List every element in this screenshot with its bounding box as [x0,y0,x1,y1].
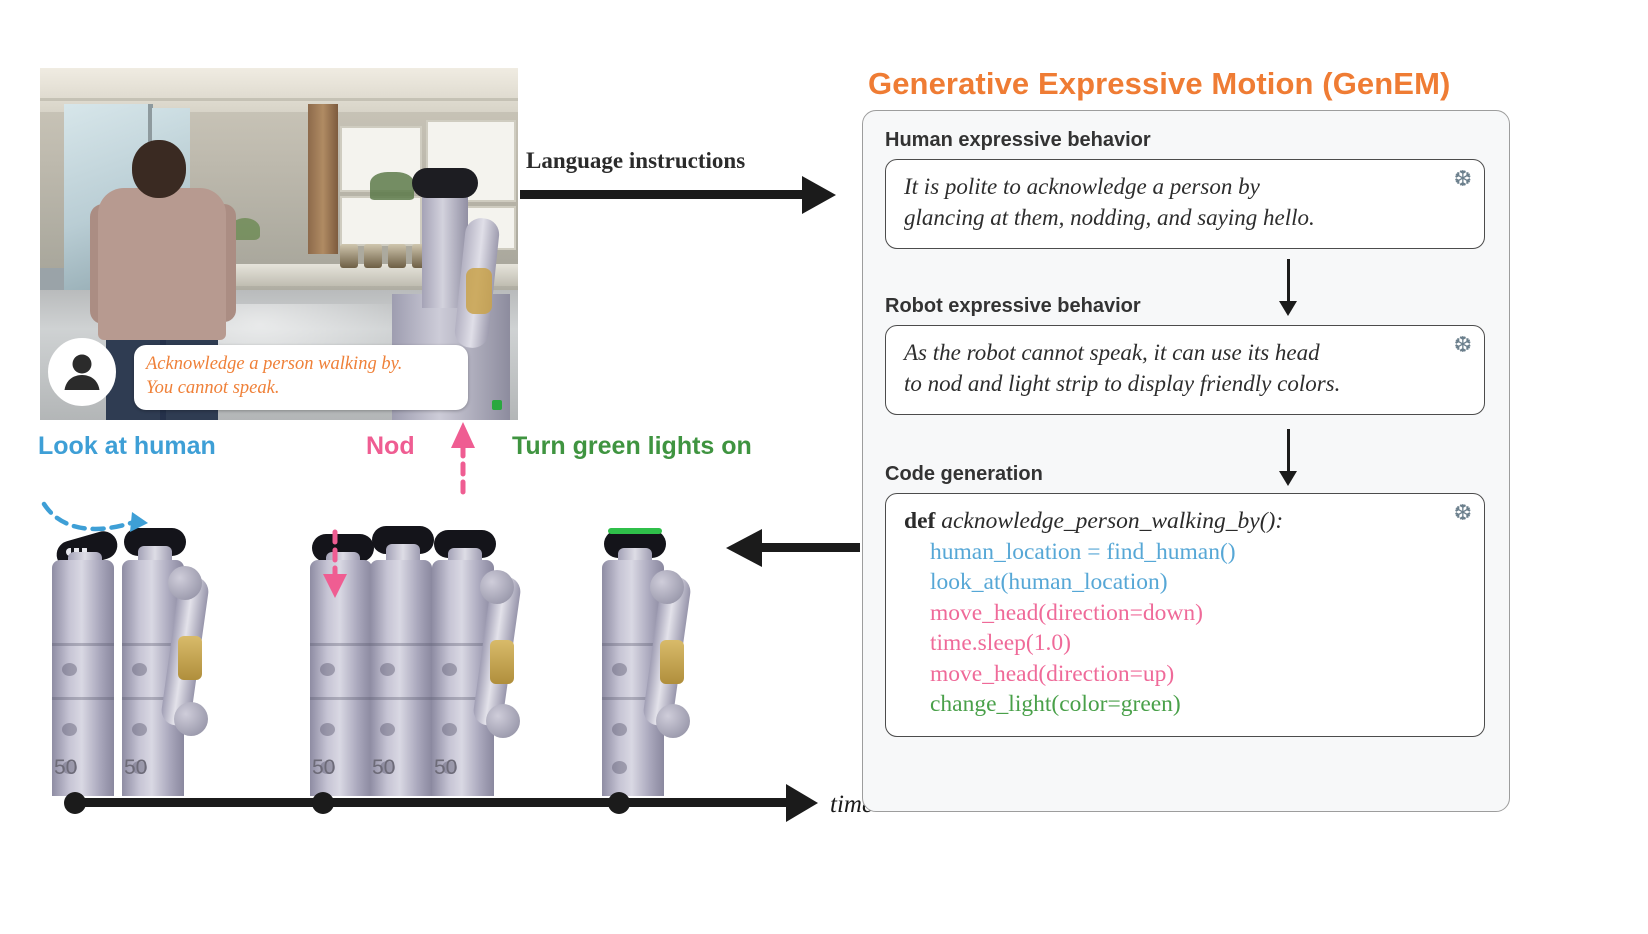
code-line-4: time.sleep(1.0) [904,628,1430,659]
photo-plant [370,172,414,200]
language-instructions-arrow: Language instructions [520,148,860,218]
snowflake-icon: ❆ [1454,168,1472,190]
snowflake-icon: ❆ [1454,334,1472,356]
language-instructions-label: Language instructions [526,148,745,174]
robot-gripper [178,636,202,680]
human-behavior-line-1: It is polite to acknowledge a person by [904,172,1430,203]
section-title: Human expressive behavior [885,129,1485,152]
section-title: Code generation [885,463,1485,486]
robot-behavior-card: ❆ As the robot cannot speak, it can use … [885,325,1485,415]
robot-elbow-joint [174,702,208,736]
robot-body-label: 50 [124,756,147,780]
robot-elbow-joint [656,704,690,738]
code-line-def: def acknowledge_person_walking_by(): [904,506,1430,537]
robot-gripper [660,640,684,684]
robot-green-light-strip [608,528,662,534]
code-line-6: change_light(color=green) [904,689,1430,720]
human-behavior-card: ❆ It is polite to acknowledge a person b… [885,159,1485,249]
section-human-expressive-behavior: Human expressive behavior ❆ It is polite… [885,129,1485,249]
arrow-shaft [760,543,860,552]
stage-caption-turn-green-lights-on: Turn green lights on [512,432,752,461]
photo-wood-column [308,104,338,254]
robot-body-label: 50 [54,756,77,780]
code-line-1: human_location = find_human() [904,537,1430,568]
person-avatar-icon [48,338,116,406]
robot-motion-filmstrip: 50 50 [30,466,860,796]
look-direction-arrow-icon [40,498,150,540]
arrow-head-icon [786,784,818,822]
code-line-2: look_at(human_location) [904,567,1430,598]
left-pipeline-panel: 50 Acknowledge a person walking by. You … [0,0,860,934]
time-axis: time [30,782,850,830]
robot-shoulder-joint [650,570,684,604]
section-robot-expressive-behavior: Robot expressive behavior ❆ As the robot… [885,295,1485,415]
genem-panel-title: Generative Expressive Motion (GenEM) [868,66,1450,102]
photo-robot-head [412,168,478,198]
nod-up-arrow-icon [446,418,480,496]
code-to-robot-arrow [726,528,858,568]
arrow-head-icon [726,529,762,567]
photo-ceiling-line [40,98,518,101]
section-code-generation: Code generation ❆ def acknowledge_person… [885,463,1485,737]
instruction-line-2: You cannot speak. [146,377,456,401]
robot-gripper [490,640,514,684]
time-axis-line [72,798,798,807]
nod-down-arrow-icon [318,528,352,600]
stage-caption-look-at-human: Look at human [38,432,216,461]
photo-person-torso [98,188,226,340]
robot-shoulder-joint [480,570,514,604]
time-axis-tick [312,792,334,814]
time-axis-tick [64,792,86,814]
section-title: Robot expressive behavior [885,295,1485,318]
photo-robot-gripper [466,268,492,314]
code-line-5: move_head(direction=up) [904,659,1430,690]
photo-person-head [132,140,186,198]
photo-whiteboard [340,196,422,246]
human-behavior-line-2: glancing at them, nodding, and saying he… [904,203,1430,234]
robot-behavior-line-1: As the robot cannot speak, it can use it… [904,338,1430,369]
code-keyword-def: def [904,508,935,534]
robot-body-label: 50 [372,756,395,780]
robot-body-label: 50 [434,756,457,780]
code-line-3: move_head(direction=down) [904,598,1430,629]
instruction-speech-bubble: Acknowledge a person walking by. You can… [134,345,468,410]
arrow-head-icon [802,176,836,214]
robot-shoulder-joint [168,566,202,600]
arrow-shaft [520,190,810,199]
robot-behavior-line-2: to nod and light strip to display friend… [904,369,1430,400]
snowflake-icon: ❆ [1454,502,1472,524]
genem-panel: Human expressive behavior ❆ It is polite… [862,110,1510,812]
photo-robot-led [492,400,502,410]
code-generation-card: ❆ def acknowledge_person_walking_by(): h… [885,493,1485,737]
code-function-name: acknowledge_person_walking_by(): [941,508,1283,534]
robot-body-label: 50 [312,756,335,780]
instruction-line-1: Acknowledge a person walking by. [146,353,456,377]
stage-caption-nod: Nod [366,432,415,461]
time-axis-tick [608,792,630,814]
robot-elbow-joint [486,704,520,738]
